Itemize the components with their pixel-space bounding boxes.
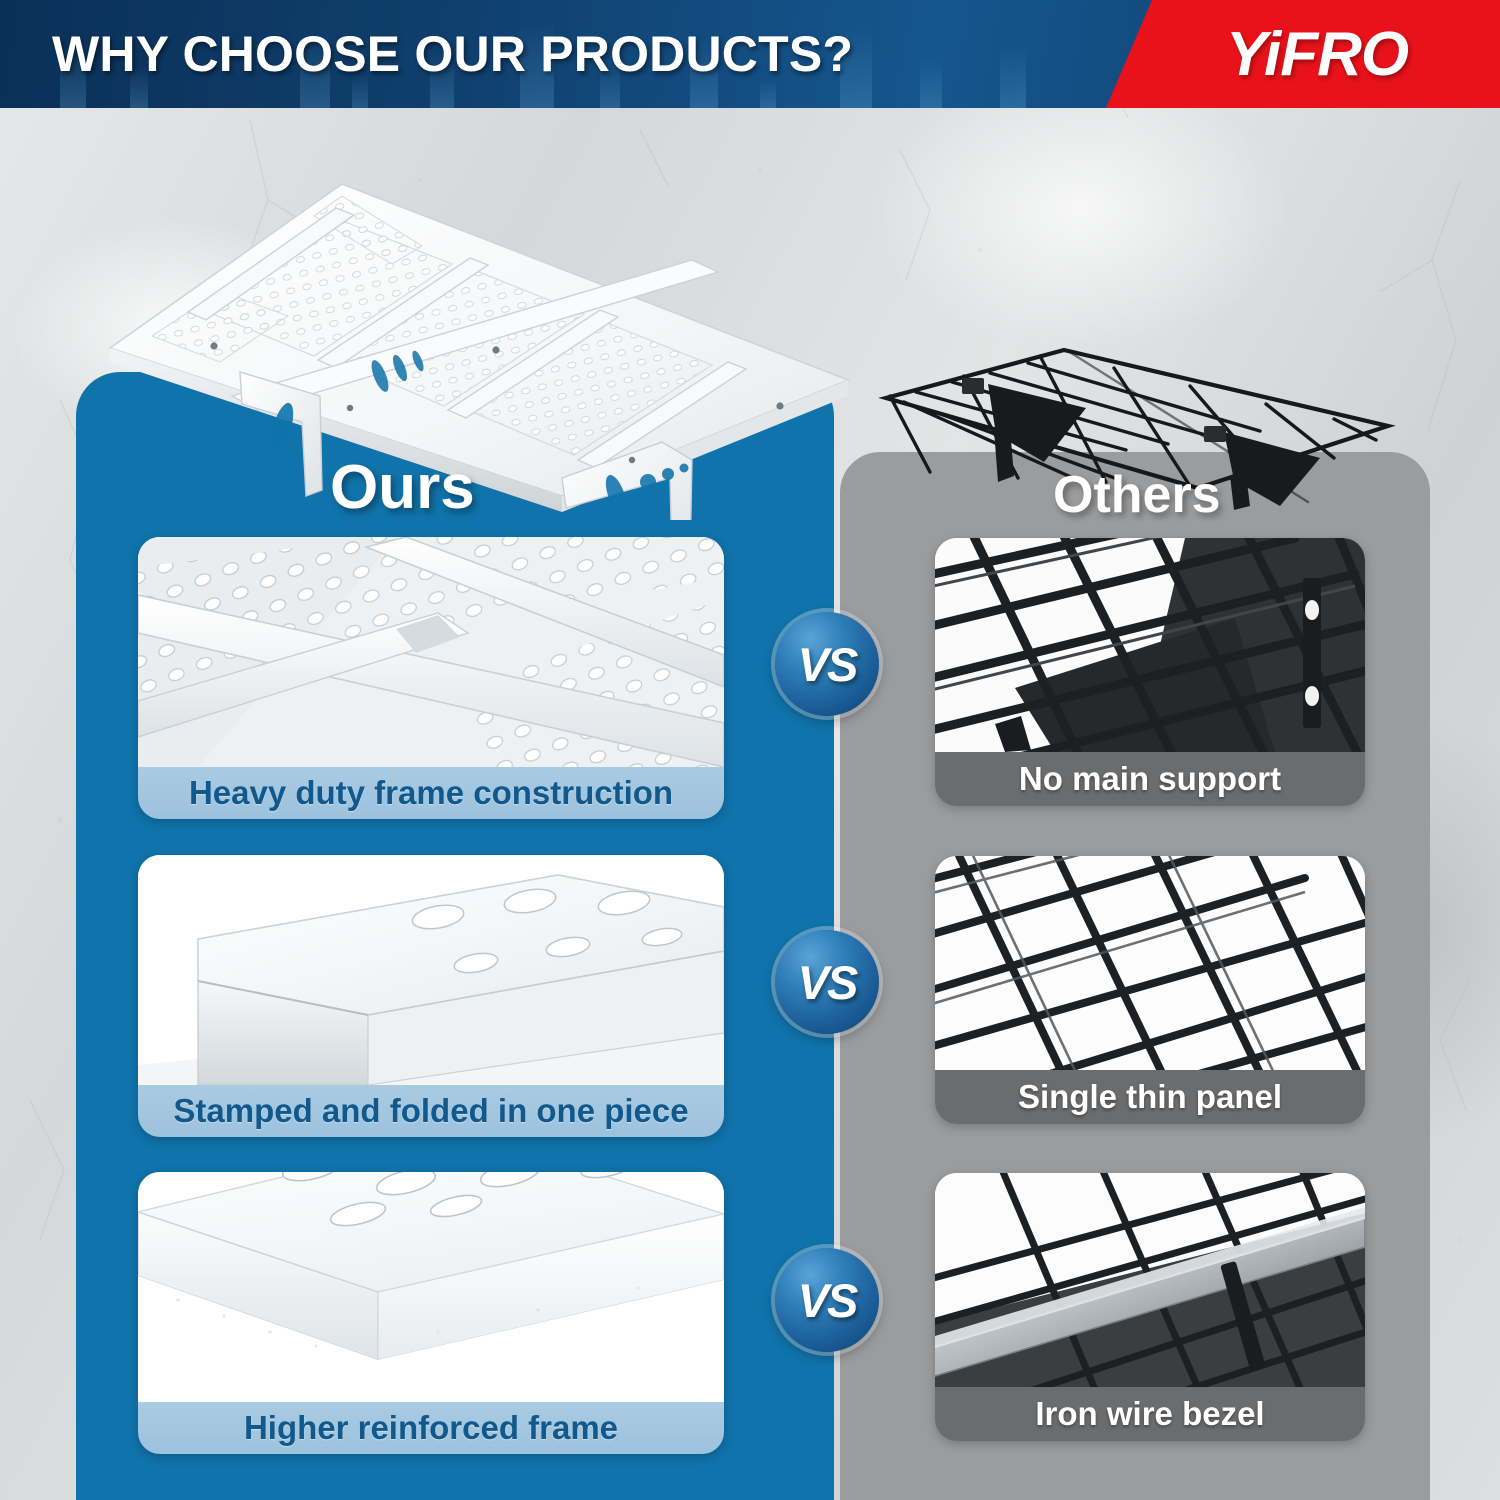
ours-card-3[interactable]: Higher reinforced frame: [138, 1172, 724, 1454]
others-card-3-photo: [935, 1173, 1365, 1387]
header-banner: WHY CHOOSE OUR PRODUCTS? YiFRO: [0, 0, 1500, 108]
ours-card-1-caption: Heavy duty frame construction: [138, 767, 724, 819]
others-card-2-photo: [935, 856, 1365, 1070]
vs-label: VS: [798, 955, 857, 1010]
vs-badge-1: VS: [775, 612, 879, 716]
others-card-2-caption: Single thin panel: [935, 1070, 1365, 1124]
ours-card-3-photo: [138, 1172, 724, 1402]
others-card-2[interactable]: Single thin panel: [935, 856, 1365, 1124]
others-card-1-caption: No main support: [935, 752, 1365, 806]
vs-badge-2: VS: [775, 930, 879, 1034]
brand-logo: YiFRO: [1080, 0, 1500, 108]
others-card-3-caption: Iron wire bezel: [935, 1387, 1365, 1441]
ours-card-3-caption: Higher reinforced frame: [138, 1402, 724, 1454]
vs-label: VS: [798, 1273, 857, 1328]
ours-card-2[interactable]: Stamped and folded in one piece: [138, 855, 724, 1137]
others-card-1[interactable]: No main support: [935, 538, 1365, 806]
ours-hero-image: [92, 160, 862, 520]
ours-card-2-photo: [138, 855, 724, 1085]
ours-heading: Ours: [330, 452, 475, 523]
vs-label: VS: [798, 637, 857, 692]
ours-card-1-photo: [138, 537, 724, 767]
others-card-1-photo: [935, 538, 1365, 752]
ours-card-1[interactable]: Heavy duty frame construction: [138, 537, 724, 819]
page-title: WHY CHOOSE OUR PRODUCTS?: [52, 0, 853, 108]
vs-badge-3: VS: [775, 1248, 879, 1352]
others-heading: Others: [1053, 465, 1221, 525]
others-card-3[interactable]: Iron wire bezel: [935, 1173, 1365, 1441]
infographic-page: WHY CHOOSE OUR PRODUCTS? YiFRO: [0, 0, 1500, 1500]
ours-card-2-caption: Stamped and folded in one piece: [138, 1085, 724, 1137]
